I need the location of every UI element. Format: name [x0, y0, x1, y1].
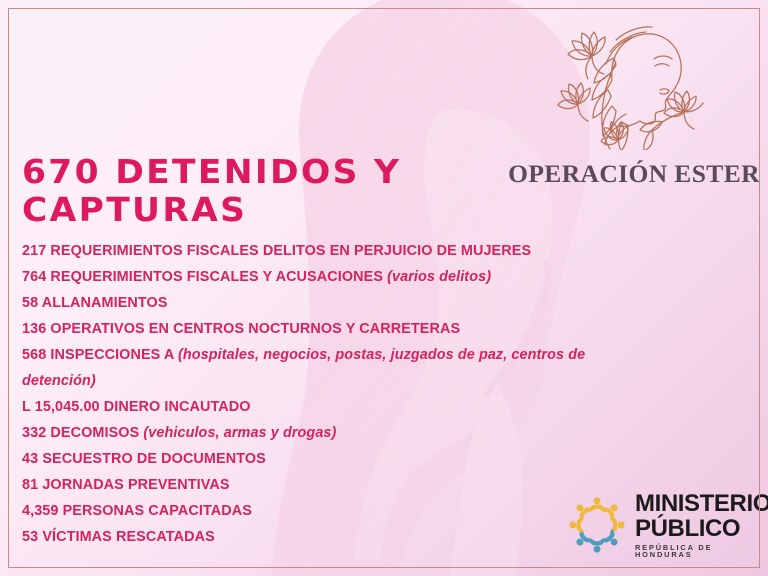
stat-number: 332 [22, 425, 46, 441]
stat-item: 43 SECUESTRO DE DOCUMENTOS [22, 446, 592, 472]
stat-label: DECOMISOS [46, 425, 143, 441]
stat-item: 217 REQUERIMIENTOS FISCALES DELITOS EN P… [22, 238, 592, 264]
mp-line-2: PÚBLICO [635, 517, 768, 541]
stat-item: 136 OPERATIVOS EN CENTROS NOCTURNOS Y CA… [22, 316, 592, 342]
stat-item: 81 JORNADAS PREVENTIVAS [22, 472, 592, 498]
mp-line-1: MINISTERIO [635, 492, 768, 516]
stat-number: 136 [22, 321, 46, 337]
stat-label: SECUESTRO DE DOCUMENTOS [38, 451, 266, 467]
stat-number: 568 [22, 347, 46, 363]
stat-label: INSPECCIONES A [46, 347, 178, 363]
page-title: 670 DETENIDOS Y CAPTURAS [22, 153, 520, 229]
stat-item: 764 REQUERIMIENTOS FISCALES Y ACUSACIONE… [22, 264, 592, 290]
ministerio-publico-wordmark: MINISTERIO PÚBLICO REPÚBLICA DE HONDURAS [635, 492, 768, 559]
stat-number: 4,359 [22, 503, 59, 519]
headline-line-2: CAPTURAS [22, 191, 520, 229]
operation-title: OPERACIÓN ESTER [508, 159, 760, 191]
stat-item: 58 ALLANAMIENTOS [22, 290, 592, 316]
stat-item: 332 DECOMISOS (vehiculos, armas y drogas… [22, 420, 592, 446]
circle-of-people-emblem-icon [566, 494, 628, 556]
stat-label: REQUERIMIENTOS FISCALES Y ACUSACIONES [46, 269, 387, 285]
mp-line-3: REPÚBLICA DE HONDURAS [635, 544, 768, 559]
statistics-list: 217 REQUERIMIENTOS FISCALES DELITOS EN P… [22, 238, 592, 550]
stat-label: DINERO INCAUTADO [100, 399, 251, 415]
stat-label: REQUERIMIENTOS FISCALES DELITOS EN PERJU… [46, 243, 531, 259]
stat-item: L 15,045.00 DINERO INCAUTADO [22, 394, 592, 420]
stat-item: 53 VÍCTIMAS RESCATADAS [22, 524, 592, 550]
stat-number: 43 [22, 451, 38, 467]
woman-with-flowers-line-art-logo [548, 18, 716, 150]
stat-detail: (varios delitos) [387, 269, 491, 285]
stat-item: 4,359 PERSONAS CAPACITADAS [22, 498, 592, 524]
ministerio-publico-logo: MINISTERIO PÚBLICO REPÚBLICA DE HONDURAS [566, 492, 756, 558]
stat-number: 58 [22, 295, 38, 311]
emblem-person [572, 500, 593, 521]
stat-label: PERSONAS CAPACITADAS [59, 503, 252, 519]
stat-label: VÍCTIMAS RESCATADAS [38, 529, 215, 545]
stat-number: L 15,045.00 [22, 399, 100, 415]
stat-label: OPERATIVOS EN CENTROS NOCTURNOS Y CARRET… [46, 321, 460, 337]
stat-number: 81 [22, 477, 38, 493]
stat-detail: (vehiculos, armas y drogas) [143, 425, 336, 441]
stat-number: 217 [22, 243, 46, 259]
poster-canvas: OPERACIÓN ESTER 670 DETENIDOS Y CAPTURAS… [0, 0, 768, 576]
stat-number: 53 [22, 529, 38, 545]
headline-line-1: 670 DETENIDOS Y [22, 153, 520, 191]
stat-number: 764 [22, 269, 46, 285]
stat-label: ALLANAMIENTOS [38, 295, 167, 311]
stat-item: 568 INSPECCIONES A (hospitales, negocios… [22, 342, 592, 394]
stat-label: JORNADAS PREVENTIVAS [38, 477, 229, 493]
